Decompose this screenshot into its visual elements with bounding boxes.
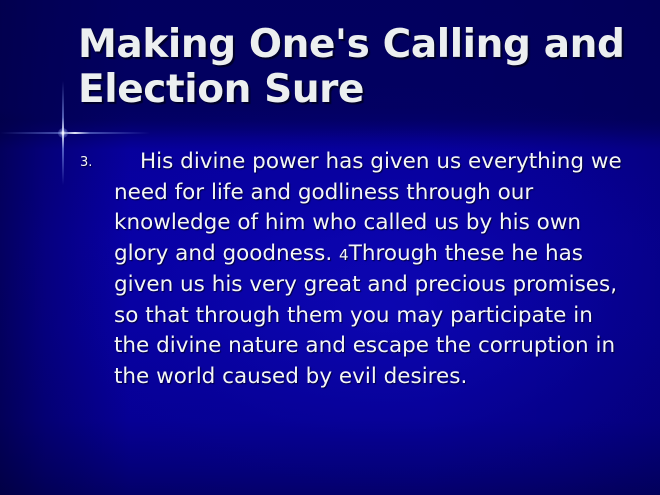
- list-item-text: His divine power has given us everything…: [114, 147, 623, 392]
- star-sparkle-core: [58, 128, 68, 138]
- list-item-marker: 3.: [80, 156, 92, 169]
- slide-title: Making One's Calling and Election Sure: [78, 22, 638, 112]
- list-item: 3. His divine power has given us everyth…: [78, 147, 623, 392]
- star-sparkle-horizontal-ray: [0, 132, 150, 134]
- slide-body: 3. His divine power has given us everyth…: [78, 147, 623, 392]
- verse-number: 4: [339, 246, 349, 264]
- presentation-slide: Making One's Calling and Election Sure 3…: [0, 0, 660, 495]
